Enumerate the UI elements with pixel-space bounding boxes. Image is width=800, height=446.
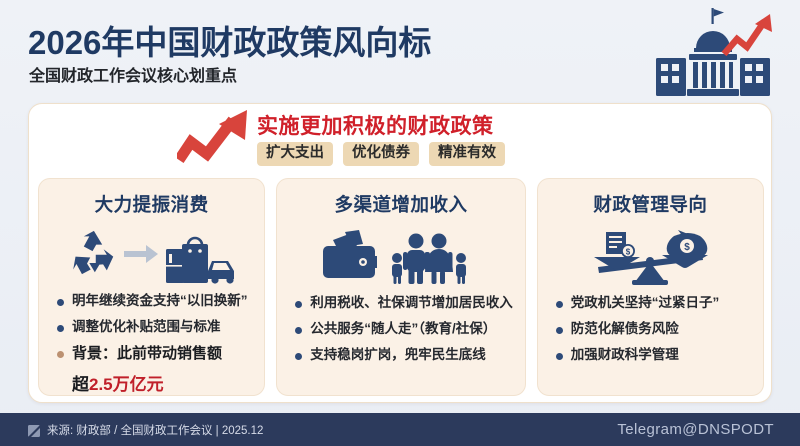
list-item: 党政机关坚持“过紧日子” — [556, 295, 751, 312]
bullet-dot — [556, 301, 563, 308]
footer-source-text: 来源: 财政部 / 全国财政工作会议 | 2025.12 — [47, 422, 263, 438]
bullet-dot — [57, 299, 64, 306]
red-up-arrow-icon — [177, 106, 261, 164]
banner-tag-1[interactable]: 优化债券 — [343, 142, 419, 166]
bullet-dot — [556, 353, 563, 360]
list-item: 明年继续资金支持“以旧换新” — [57, 293, 252, 310]
page-title: 2026年中国财政政策风向标 — [28, 16, 431, 64]
footer: 来源: 财政部 / 全国财政工作会议 | 2025.12 Telegram@DN… — [0, 413, 800, 446]
header: 2026年中国财政政策风向标 全国财政工作会议核心划重点 — [0, 0, 800, 103]
bullet-text: 利用税收、社保调节增加居民收入 — [310, 295, 513, 312]
policy-banner: 实施更加积极的财政政策 扩大支出 优化债券 精准有效 — [29, 104, 773, 176]
source-mark-icon — [28, 424, 40, 436]
list-item: 支持稳岗扩岗，兜牢民生底线 — [295, 347, 513, 364]
bullet-dot — [295, 353, 302, 360]
government-building-growth-icon — [648, 6, 778, 98]
bullet-dot — [295, 327, 302, 334]
card-income[interactable]: 多渠道增加收入 — [276, 178, 526, 396]
svg-text:$: $ — [626, 248, 631, 257]
note-body: 背景：此前带动销售额 — [72, 345, 222, 364]
bullet-text: 党政机关坚持“过紧日子” — [571, 295, 720, 312]
banner-tag-2[interactable]: 精准有效 — [429, 142, 505, 166]
banner-tag-row: 扩大支出 优化债券 精准有效 — [257, 142, 505, 166]
bullet-text: 防范化解债务风险 — [571, 321, 679, 338]
svg-text:$: $ — [685, 242, 691, 253]
bullet-text: 支持稳岗扩岗，兜牢民生底线 — [310, 347, 486, 364]
list-item: 防范化解债务风险 — [556, 321, 751, 338]
footer-telegram-handle: Telegram@DNSPODT — [617, 421, 774, 438]
bullet-dot — [295, 301, 302, 308]
bullet-dot — [57, 325, 64, 332]
footer-source-group: 来源: 财政部 / 全国财政工作会议 | 2025.12 — [28, 422, 263, 438]
card-fiscal-management[interactable]: 财政管理导向 $ — [537, 178, 764, 396]
list-item: 调整优化补贴范围与标准 — [57, 319, 252, 336]
list-item: 公共服务“随人走”（教育/社保） — [295, 321, 513, 338]
bullet-dot — [556, 327, 563, 334]
list-item-background-note: 背景：此前带动销售额 — [57, 345, 252, 364]
infographic-page: 2026年中国财政政策风向标 全国财政工作会议核心划重点 — [0, 0, 800, 446]
card-title: 多渠道增加收入 — [334, 191, 467, 217]
banner-heading: 实施更加积极的财政政策 — [257, 110, 494, 140]
content-panel: 实施更加积极的财政政策 扩大支出 优化债券 精准有效 大力提振消费 — [28, 103, 772, 403]
wallet-family-icon — [313, 223, 489, 287]
bullet-dot-tan — [57, 351, 64, 358]
list-item: 利用税收、社保调节增加居民收入 — [295, 295, 513, 312]
note-prefix: 超 — [72, 370, 89, 395]
note-value: 2.5万亿元 — [89, 370, 164, 395]
bullet-text: 明年继续资金支持“以旧换新” — [72, 293, 248, 310]
list-item: 加强财政科学管理 — [556, 347, 751, 364]
card-title: 大力提振消费 — [95, 191, 209, 217]
banner-tag-0[interactable]: 扩大支出 — [257, 142, 333, 166]
card-bullets: 党政机关坚持“过紧日子” 防范化解债务风险 加强财政科学管理 — [550, 295, 751, 373]
recycle-to-new-goods-icon — [64, 223, 240, 285]
note-label: 背景：此前带动销售额 — [72, 345, 222, 362]
note-value-row: 超 2.5万亿元 — [72, 370, 252, 395]
card-bullets: 利用税收、社保调节增加居民收入 公共服务“随人走”（教育/社保） 支持稳岗扩岗，… — [289, 295, 513, 373]
page-subtitle: 全国财政工作会议核心划重点 — [29, 62, 237, 86]
card-row: 大力提振消费 — [38, 178, 764, 396]
bullet-text: 调整优化补贴范围与标准 — [72, 319, 221, 336]
bullet-text: 公共服务“随人走”（教育/社保） — [310, 321, 496, 338]
card-consumption[interactable]: 大力提振消费 — [38, 178, 265, 396]
card-bullets: 明年继续资金支持“以旧换新” 调整优化补贴范围与标准 背景：此前带动销售额 超 — [51, 293, 252, 404]
balance-scale-money-icon: $ $ — [562, 223, 738, 287]
card-title: 财政管理导向 — [593, 191, 707, 217]
bullet-text: 加强财政科学管理 — [571, 347, 679, 364]
